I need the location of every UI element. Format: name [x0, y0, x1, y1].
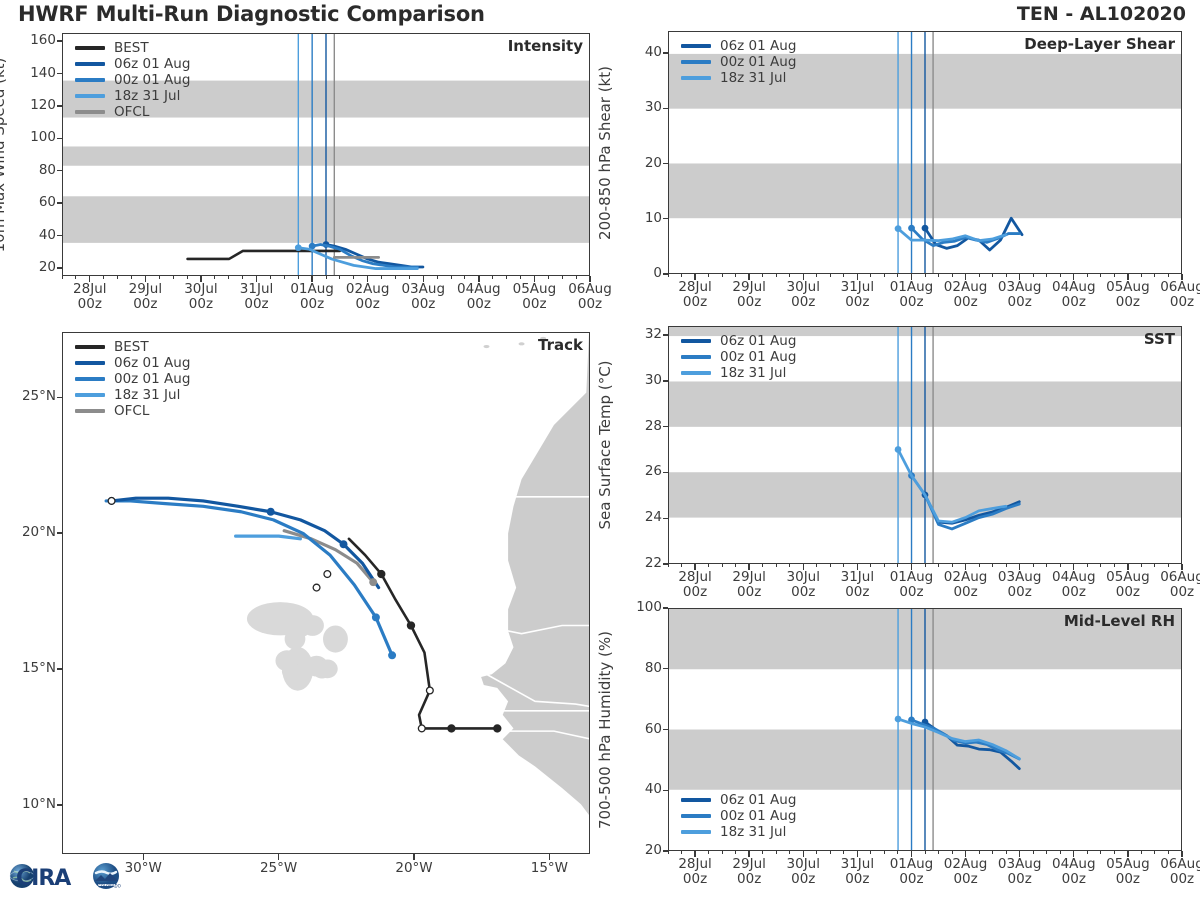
x-minor-tick [884, 274, 885, 277]
track-line [349, 539, 497, 729]
x-tick-hour: 00z [1170, 871, 1194, 887]
x-minor-tick [1046, 851, 1047, 854]
y-tick-label: 20 [622, 842, 662, 858]
x-tick-date: 05Aug [513, 281, 557, 297]
x-tick-date: 03Aug [998, 279, 1042, 295]
x-minor-tick [735, 564, 736, 567]
x-minor-tick [1127, 564, 1128, 567]
x-tick-label: 06Aug00z [556, 282, 624, 312]
x-minor-tick [117, 276, 118, 279]
track-legend: BEST06z 01 Aug00z 01 Aug18z 31 JulOFCL [75, 339, 190, 419]
x-minor-tick [911, 851, 912, 854]
x-minor-tick [870, 564, 871, 567]
x-minor-tick [478, 276, 479, 279]
y-tick-mark [663, 729, 668, 730]
x-minor-tick [1019, 274, 1020, 277]
x-minor-tick [789, 564, 790, 567]
legend-swatch [75, 345, 105, 350]
x-tick-date: 01Aug [890, 856, 934, 872]
legend-swatch [681, 339, 711, 344]
y-tick-label: 30 [622, 99, 662, 115]
x-minor-tick [843, 274, 844, 277]
x-minor-tick [506, 276, 507, 279]
legend-swatch [681, 830, 711, 835]
x-minor-tick [749, 274, 750, 277]
x-tick-hour: 00z [1062, 584, 1086, 600]
x-minor-tick [722, 274, 723, 277]
legend-swatch [681, 814, 711, 819]
x-tick-date: 05Aug [1106, 279, 1150, 295]
x-minor-tick [576, 276, 577, 279]
x-minor-tick [75, 276, 76, 279]
x-minor-tick [1019, 851, 1020, 854]
x-minor-tick [1168, 274, 1169, 277]
intensity-panel-title: Intensity [508, 37, 583, 55]
x-tick-date: 28Jul [678, 569, 711, 585]
x-minor-tick [1006, 274, 1007, 277]
x-tick-date: 29Jul [732, 569, 765, 585]
track-marker [377, 570, 385, 578]
panel-track: TrackBEST06z 01 Aug00z 01 Aug18z 31 JulO… [62, 332, 590, 854]
x-minor-tick [103, 276, 104, 279]
legend-item: 00z 01 Aug [681, 808, 796, 824]
lon-tick-mark [413, 854, 414, 860]
x-tick-date: 04Aug [1052, 856, 1096, 872]
legend-label: 06z 01 Aug [114, 355, 190, 371]
track-line [236, 536, 301, 539]
x-minor-tick [1168, 564, 1169, 567]
x-minor-tick [816, 851, 817, 854]
x-minor-tick [1154, 851, 1155, 854]
x-tick-date: 31Jul [240, 281, 273, 297]
track-marker [267, 508, 275, 516]
x-minor-tick [749, 851, 750, 854]
legend-item: 18z 31 Jul [681, 70, 796, 86]
legend-label: 18z 31 Jul [114, 387, 180, 403]
x-minor-tick [187, 276, 188, 279]
lat-tick-label: 20°N [4, 524, 56, 540]
legend-label: 00z 01 Aug [114, 72, 190, 88]
legend-item: OFCL [75, 104, 190, 120]
intensity-legend: BEST06z 01 Aug00z 01 Aug18z 31 JulOFCL [75, 40, 190, 120]
legend-swatch [681, 355, 711, 360]
lon-tick-mark [278, 854, 279, 860]
legend-swatch [681, 798, 711, 803]
track-marker [426, 687, 433, 694]
lat-tick-label: 10°N [4, 796, 56, 812]
x-tick-hour: 00z [300, 296, 324, 312]
x-tick-hour: 00z [1116, 871, 1140, 887]
x-tick-hour: 00z [1062, 871, 1086, 887]
x-minor-tick [992, 274, 993, 277]
y-tick-label: 40 [622, 44, 662, 60]
x-tick-hour: 00z [78, 296, 102, 312]
legend-item: 00z 01 Aug [681, 349, 796, 365]
x-minor-tick [1141, 851, 1142, 854]
lon-tick-label: 25°W [245, 861, 313, 876]
x-minor-tick [830, 851, 831, 854]
x-tick-hour: 00z [411, 296, 435, 312]
legend-item: 18z 31 Jul [681, 824, 796, 840]
legend-label: BEST [114, 40, 149, 56]
x-minor-tick [173, 276, 174, 279]
y-tick-mark [663, 790, 668, 791]
x-tick-date: 05Aug [1106, 856, 1150, 872]
legend-label: 06z 01 Aug [720, 38, 796, 54]
x-minor-tick [789, 274, 790, 277]
x-tick-date: 06Aug [1160, 279, 1200, 295]
legend-item: 06z 01 Aug [75, 56, 190, 72]
x-tick-hour: 00z [737, 871, 761, 887]
x-minor-tick [695, 564, 696, 567]
track-marker [407, 621, 415, 629]
track-marker [493, 724, 501, 732]
x-minor-tick [492, 276, 493, 279]
x-minor-tick [925, 274, 926, 277]
legend-item: 18z 31 Jul [75, 88, 190, 104]
x-minor-tick [381, 276, 382, 279]
x-minor-tick [1033, 564, 1034, 567]
x-tick-label: 06Aug00z [1148, 280, 1200, 310]
x-minor-tick [722, 564, 723, 567]
legend-swatch [75, 393, 105, 398]
legend-swatch [75, 94, 105, 99]
y-tick-mark [57, 105, 62, 106]
x-tick-hour: 00z [737, 294, 761, 310]
x-tick-hour: 00z [845, 294, 869, 310]
x-minor-tick [1073, 564, 1074, 567]
y-tick-mark [57, 40, 62, 41]
y-tick-label: 26 [622, 463, 662, 479]
y-tick-mark [663, 218, 668, 219]
y-tick-mark [663, 334, 668, 335]
x-tick-date: 02Aug [944, 856, 988, 872]
legend-item: BEST [75, 40, 190, 56]
x-minor-tick [1046, 274, 1047, 277]
x-tick-hour: 00z [845, 584, 869, 600]
x-minor-tick [735, 851, 736, 854]
legend-label: 06z 01 Aug [720, 792, 796, 808]
svg-text:COLORADO: COLORADO [98, 884, 121, 889]
x-minor-tick [830, 274, 831, 277]
x-minor-tick [339, 276, 340, 279]
x-minor-tick [562, 276, 563, 279]
x-tick-hour: 00z [1008, 871, 1032, 887]
x-minor-tick [326, 276, 327, 279]
x-minor-tick [803, 274, 804, 277]
page-title: HWRF Multi-Run Diagnostic Comparison [18, 2, 485, 26]
sst-y-axis-label: Sea Surface Temp (°C) [596, 360, 614, 529]
x-minor-tick [62, 276, 63, 279]
lon-tick-label: 30°W [109, 861, 177, 876]
x-minor-tick [857, 564, 858, 567]
y-tick-mark [663, 380, 668, 381]
x-tick-date: 01Aug [290, 281, 334, 297]
legend-swatch [681, 76, 711, 81]
x-minor-tick [681, 564, 682, 567]
x-tick-date: 02Aug [944, 279, 988, 295]
x-minor-tick [520, 276, 521, 279]
legend-swatch [75, 62, 105, 67]
lat-tick-mark [57, 804, 62, 805]
x-tick-hour: 00z [133, 296, 157, 312]
x-tick-hour: 00z [845, 871, 869, 887]
x-tick-date: 30Jul [787, 569, 820, 585]
legend-item: 18z 31 Jul [681, 365, 796, 381]
x-tick-hour: 00z [467, 296, 491, 312]
storm-identifier: TEN - AL102020 [1017, 3, 1186, 25]
x-minor-tick [270, 276, 271, 279]
x-tick-hour: 00z [522, 296, 546, 312]
x-minor-tick [1006, 851, 1007, 854]
x-tick-date: 29Jul [732, 856, 765, 872]
x-minor-tick [256, 276, 257, 279]
x-minor-tick [1033, 851, 1034, 854]
legend-item: 00z 01 Aug [75, 371, 190, 387]
y-tick-label: 120 [16, 97, 56, 113]
x-tick-label: 06Aug00z [1148, 857, 1200, 887]
panel-intensity: IntensityBEST06z 01 Aug00z 01 Aug18z 31 … [62, 33, 590, 276]
x-minor-tick [870, 851, 871, 854]
island [282, 663, 303, 680]
x-tick-hour: 00z [683, 871, 707, 887]
panel-shear: Deep-Layer Shear06z 01 Aug00z 01 Aug18z … [668, 31, 1182, 274]
x-minor-tick [1073, 851, 1074, 854]
x-minor-tick [1019, 564, 1020, 567]
x-minor-tick [938, 564, 939, 567]
x-tick-date: 04Aug [1052, 279, 1096, 295]
legend-label: 00z 01 Aug [720, 808, 796, 824]
x-minor-tick [857, 851, 858, 854]
lat-tick-mark [57, 532, 62, 533]
shear-y-axis-label: 200-850 hPa Shear (kt) [596, 66, 614, 240]
x-minor-tick [681, 851, 682, 854]
x-minor-tick [695, 851, 696, 854]
x-minor-tick [776, 274, 777, 277]
x-tick-hour: 00z [1116, 294, 1140, 310]
y-tick-label: 0 [622, 265, 662, 281]
x-minor-tick [1006, 564, 1007, 567]
island [519, 342, 525, 345]
y-tick-mark [57, 235, 62, 236]
x-minor-tick [897, 564, 898, 567]
x-minor-tick [1046, 564, 1047, 567]
x-minor-tick [776, 851, 777, 854]
x-minor-tick [1141, 564, 1142, 567]
x-tick-hour: 00z [1116, 584, 1140, 600]
x-tick-date: 01Aug [890, 279, 934, 295]
y-tick-mark [57, 202, 62, 203]
x-tick-hour: 00z [1062, 294, 1086, 310]
panel-sst: SST06z 01 Aug00z 01 Aug18z 31 Jul [668, 326, 1182, 564]
track-marker [108, 498, 115, 505]
legend-label: OFCL [114, 403, 149, 419]
x-minor-tick [1182, 564, 1183, 567]
x-minor-tick [816, 564, 817, 567]
x-tick-hour: 00z [578, 296, 602, 312]
x-minor-tick [884, 564, 885, 567]
y-tick-mark [663, 108, 668, 109]
x-minor-tick [1182, 851, 1183, 854]
x-minor-tick [159, 276, 160, 279]
x-tick-date: 02Aug [944, 569, 988, 585]
y-tick-label: 20 [16, 259, 56, 275]
x-minor-tick [1100, 564, 1101, 567]
x-tick-date: 28Jul [73, 281, 106, 297]
y-tick-label: 160 [16, 32, 56, 48]
legend-swatch [681, 371, 711, 376]
x-tick-hour: 00z [683, 294, 707, 310]
x-minor-tick [1168, 851, 1169, 854]
y-tick-label: 40 [622, 781, 662, 797]
x-minor-tick [708, 851, 709, 854]
x-minor-tick [843, 851, 844, 854]
lon-tick-label: 15°W [515, 861, 583, 876]
track-marker [313, 584, 320, 591]
y-tick-mark [663, 426, 668, 427]
x-tick-hour: 00z [899, 584, 923, 600]
x-tick-date: 04Aug [457, 281, 501, 297]
legend-item: 06z 01 Aug [681, 792, 796, 808]
x-minor-tick [762, 564, 763, 567]
y-tick-label: 30 [622, 372, 662, 388]
legend-label: 18z 31 Jul [720, 365, 786, 381]
track-panel-title: Track [538, 336, 583, 354]
x-tick-date: 30Jul [787, 856, 820, 872]
x-minor-tick [776, 564, 777, 567]
legend-item: OFCL [75, 403, 190, 419]
x-tick-date: 29Jul [732, 279, 765, 295]
legend-item: 06z 01 Aug [75, 355, 190, 371]
x-tick-hour: 00z [899, 871, 923, 887]
legend-swatch [75, 377, 105, 382]
x-minor-tick [1087, 851, 1088, 854]
x-tick-date: 31Jul [841, 279, 874, 295]
y-tick-label: 10 [622, 210, 662, 226]
legend-label: 00z 01 Aug [720, 54, 796, 70]
y-tick-label: 100 [16, 129, 56, 145]
sst-panel-title: SST [1144, 330, 1175, 348]
x-minor-tick [1154, 274, 1155, 277]
x-minor-tick [312, 276, 313, 279]
track-marker [447, 724, 455, 732]
y-tick-mark [57, 170, 62, 171]
legend-item: BEST [75, 339, 190, 355]
legend-label: 00z 01 Aug [720, 349, 796, 365]
x-tick-hour: 00z [1008, 584, 1032, 600]
y-tick-label: 22 [622, 555, 662, 571]
x-tick-hour: 00z [791, 294, 815, 310]
x-tick-hour: 00z [791, 584, 815, 600]
x-minor-tick [1127, 274, 1128, 277]
y-tick-label: 20 [622, 155, 662, 171]
legend-label: 18z 31 Jul [720, 70, 786, 86]
legend-item: 06z 01 Aug [681, 38, 796, 54]
island [301, 615, 324, 636]
x-minor-tick [965, 564, 966, 567]
x-tick-hour: 00z [1170, 294, 1194, 310]
x-minor-tick [803, 851, 804, 854]
legend-label: 18z 31 Jul [720, 824, 786, 840]
legend-swatch [75, 409, 105, 414]
x-minor-tick [938, 274, 939, 277]
legend-label: 06z 01 Aug [720, 333, 796, 349]
sst-legend: 06z 01 Aug00z 01 Aug18z 31 Jul [681, 333, 796, 381]
x-minor-tick [979, 564, 980, 567]
x-minor-tick [200, 276, 201, 279]
x-minor-tick [1154, 564, 1155, 567]
x-tick-hour: 00z [1008, 294, 1032, 310]
x-minor-tick [857, 274, 858, 277]
x-minor-tick [830, 564, 831, 567]
legend-swatch [75, 110, 105, 115]
x-minor-tick [668, 274, 669, 277]
x-minor-tick [214, 276, 215, 279]
intensity-y-axis-label: 10m Max Wind Speed (kt) [0, 57, 8, 252]
x-minor-tick [1182, 274, 1183, 277]
x-minor-tick [897, 851, 898, 854]
x-tick-date: 31Jul [841, 856, 874, 872]
x-minor-tick [1114, 851, 1115, 854]
x-minor-tick [897, 274, 898, 277]
x-tick-hour: 00z [953, 294, 977, 310]
x-minor-tick [911, 564, 912, 567]
x-minor-tick [1073, 274, 1074, 277]
lat-tick-label: 15°N [4, 660, 56, 676]
x-minor-tick [1100, 851, 1101, 854]
x-minor-tick [298, 276, 299, 279]
legend-swatch [681, 44, 711, 49]
x-tick-date: 06Aug [1160, 569, 1200, 585]
x-minor-tick [1087, 564, 1088, 567]
x-tick-date: 29Jul [129, 281, 162, 297]
legend-swatch [75, 78, 105, 83]
x-minor-tick [1033, 274, 1034, 277]
legend-swatch [681, 60, 711, 65]
rh-panel-title: Mid-Level RH [1064, 612, 1175, 630]
x-tick-date: 30Jul [184, 281, 217, 297]
island [484, 345, 490, 348]
x-minor-tick [228, 276, 229, 279]
x-minor-tick [735, 274, 736, 277]
x-minor-tick [708, 564, 709, 567]
island [285, 629, 306, 650]
track-marker [324, 571, 331, 578]
lat-tick-mark [57, 668, 62, 669]
x-minor-tick [409, 276, 410, 279]
lat-tick-mark [57, 397, 62, 398]
legend-label: BEST [114, 339, 149, 355]
x-minor-tick [1114, 564, 1115, 567]
x-tick-hour: 00z [356, 296, 380, 312]
x-minor-tick [952, 851, 953, 854]
x-minor-tick [952, 564, 953, 567]
x-minor-tick [423, 276, 424, 279]
legend-label: 00z 01 Aug [114, 371, 190, 387]
x-minor-tick [695, 274, 696, 277]
x-minor-tick [395, 276, 396, 279]
x-minor-tick [762, 851, 763, 854]
lon-tick-mark [549, 854, 550, 860]
y-tick-label: 60 [622, 721, 662, 737]
x-minor-tick [284, 276, 285, 279]
x-minor-tick [992, 851, 993, 854]
x-minor-tick [1141, 274, 1142, 277]
x-tick-hour: 00z [953, 871, 977, 887]
x-minor-tick [708, 274, 709, 277]
x-minor-tick [870, 274, 871, 277]
x-minor-tick [925, 851, 926, 854]
